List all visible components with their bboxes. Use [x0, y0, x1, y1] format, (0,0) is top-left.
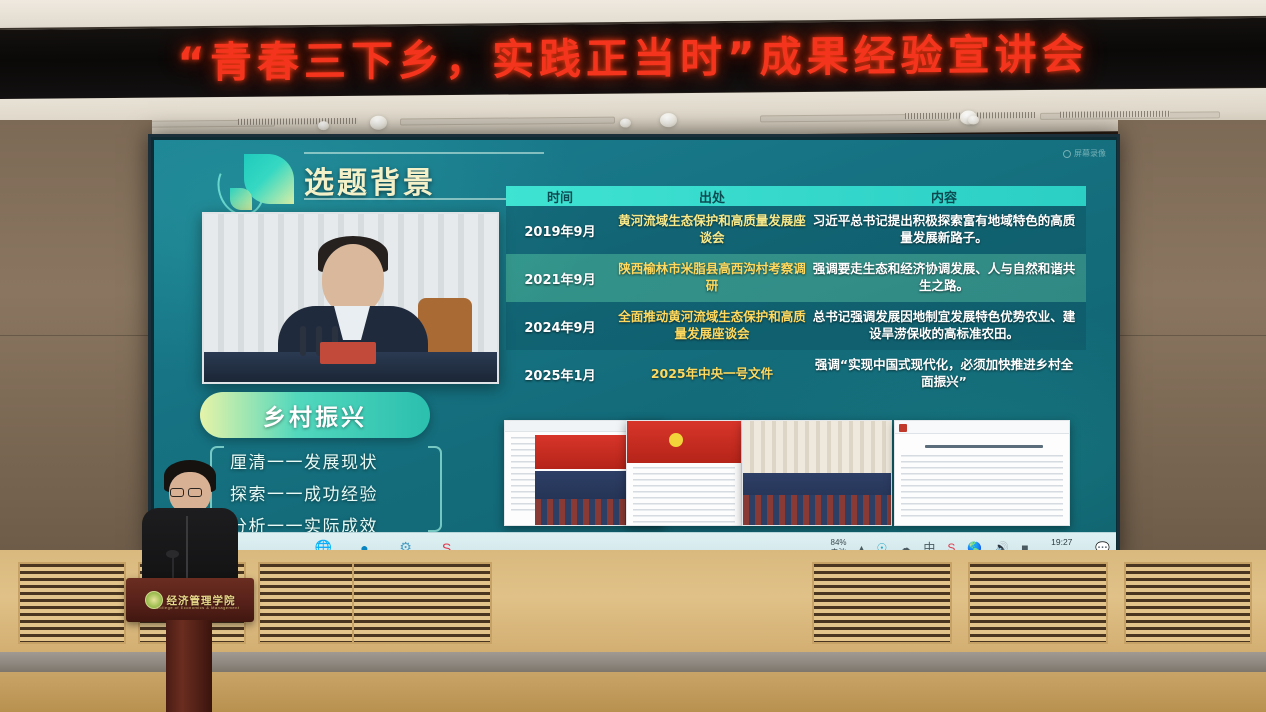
podium-nameplate: 经济管理学院 — [126, 578, 254, 622]
cell-content: 总书记强调发展因地制宜发展特色优势农业、建设旱涝保收的高标准农田。 — [810, 309, 1078, 343]
projection-screen: 屏幕录像 选题背景 — [148, 134, 1120, 562]
cell-source: 2025年中央一号文件 — [614, 366, 810, 383]
wall-panel-right — [1118, 120, 1266, 550]
jacket-zipper — [186, 516, 188, 580]
bullet-bracket-group: 厘清一一发展现状 探索一一成功经验 分析一一实际成效 — [210, 446, 442, 532]
table-row: 2025年1月 2025年中央一号文件 强调“实现中国式现代化，必须加快推进乡村… — [506, 350, 1086, 398]
table-row: 2019年9月 黄河流域生态保护和高质量发展座谈会 习近平总书记提出积极探索富有… — [506, 206, 1086, 254]
ceiling-spotlight — [660, 113, 677, 127]
news-article-party — [626, 420, 742, 526]
table-header-content: 内容 — [810, 187, 1078, 206]
led-banner-text: “青春三下乡，实践正当时”成果经验宣讲会 — [177, 33, 1088, 84]
cell-time: 2021年9月 — [506, 269, 614, 288]
podium: 经济管理学院 College of Economics & Management — [126, 578, 254, 712]
slide-title: 选题背景 — [304, 158, 436, 202]
cell-time: 2024年9月 — [506, 317, 614, 336]
title-rule-top — [304, 152, 544, 154]
ceiling-spotlight — [318, 121, 329, 130]
badge-label: 乡村振兴 — [263, 398, 367, 432]
bullet-item: 探索一一成功经验 — [230, 480, 430, 505]
photo-nameplate — [320, 342, 376, 364]
acoustic-slat-panel — [968, 562, 1108, 644]
acoustic-slat-panel — [258, 562, 366, 644]
news-thumbnail-group — [504, 420, 1024, 528]
lecture-hall-scene: “青春三下乡，实践正当时”成果经验宣讲会 屏幕录像 — [0, 0, 1266, 712]
timeline-table: 时间 出处 内容 2019年9月 黄河流域生态保护和高质量发展座谈会 习近平总书… — [506, 186, 1086, 398]
cell-content: 强调要走生态和经济协调发展、人与自然和谐共生之路。 — [810, 261, 1078, 295]
bullet-item: 厘清一一发展现状 — [230, 448, 430, 473]
cell-content: 习近平总书记提出积极探索富有地域特色的高质量发展新路子。 — [810, 213, 1078, 247]
slide-photo — [202, 212, 499, 384]
acoustic-slat-panel — [812, 562, 952, 644]
table-header-source: 出处 — [614, 187, 810, 206]
glasses-icon — [170, 488, 184, 497]
wall-panel-left — [0, 120, 152, 550]
news-article-gov — [894, 420, 1070, 526]
bullet-item: 分析一一实际成效 — [230, 512, 430, 532]
soffit-slot — [400, 117, 615, 126]
cell-source: 陕西榆林市米脂县高西沟村考察调研 — [614, 261, 810, 295]
ceiling-spotlight — [968, 115, 979, 124]
acoustic-slat-panel — [352, 562, 492, 644]
acoustic-slat-panel — [1124, 562, 1252, 644]
table-row: 2021年9月 陕西榆林市米脂县高西沟村考察调研 强调要走生态和经济协调发展、人… — [506, 254, 1086, 302]
table-header-row: 时间 出处 内容 — [506, 186, 1086, 206]
podium-stem — [166, 620, 212, 712]
leaf-logo-icon — [216, 150, 308, 220]
presentation-slide: 屏幕录像 选题背景 — [154, 140, 1116, 532]
glasses-icon — [188, 488, 202, 497]
acoustic-slat-panel — [18, 562, 126, 644]
screen-recorder-watermark: 屏幕录像 — [1063, 148, 1106, 159]
table-header-time: 时间 — [506, 187, 614, 206]
cell-time: 2019年9月 — [506, 221, 614, 240]
podium-subtitle: College of Economics & Management — [156, 605, 239, 610]
cell-source: 全面推动黄河流域生态保护和高质量发展座谈会 — [614, 309, 810, 343]
ceiling-vent — [238, 118, 358, 125]
ceiling-spotlight — [370, 116, 387, 130]
rural-revitalization-badge: 乡村振兴 — [200, 392, 430, 438]
cell-content: 强调“实现中国式现代化，必须加快推进乡村全面振兴” — [810, 357, 1078, 391]
bracket-right — [428, 446, 442, 532]
ceiling-spotlight — [620, 118, 631, 127]
cell-source: 黄河流域生态保护和高质量发展座谈会 — [614, 213, 810, 247]
table-row: 2024年9月 全面推动黄河流域生态保护和高质量发展座谈会 总书记强调发展因地制… — [506, 302, 1086, 350]
cell-time: 2025年1月 — [506, 365, 614, 384]
power-icon — [1063, 150, 1071, 158]
presenter — [136, 460, 244, 590]
news-article-meeting — [742, 420, 892, 526]
ceiling-vent — [1060, 111, 1170, 118]
